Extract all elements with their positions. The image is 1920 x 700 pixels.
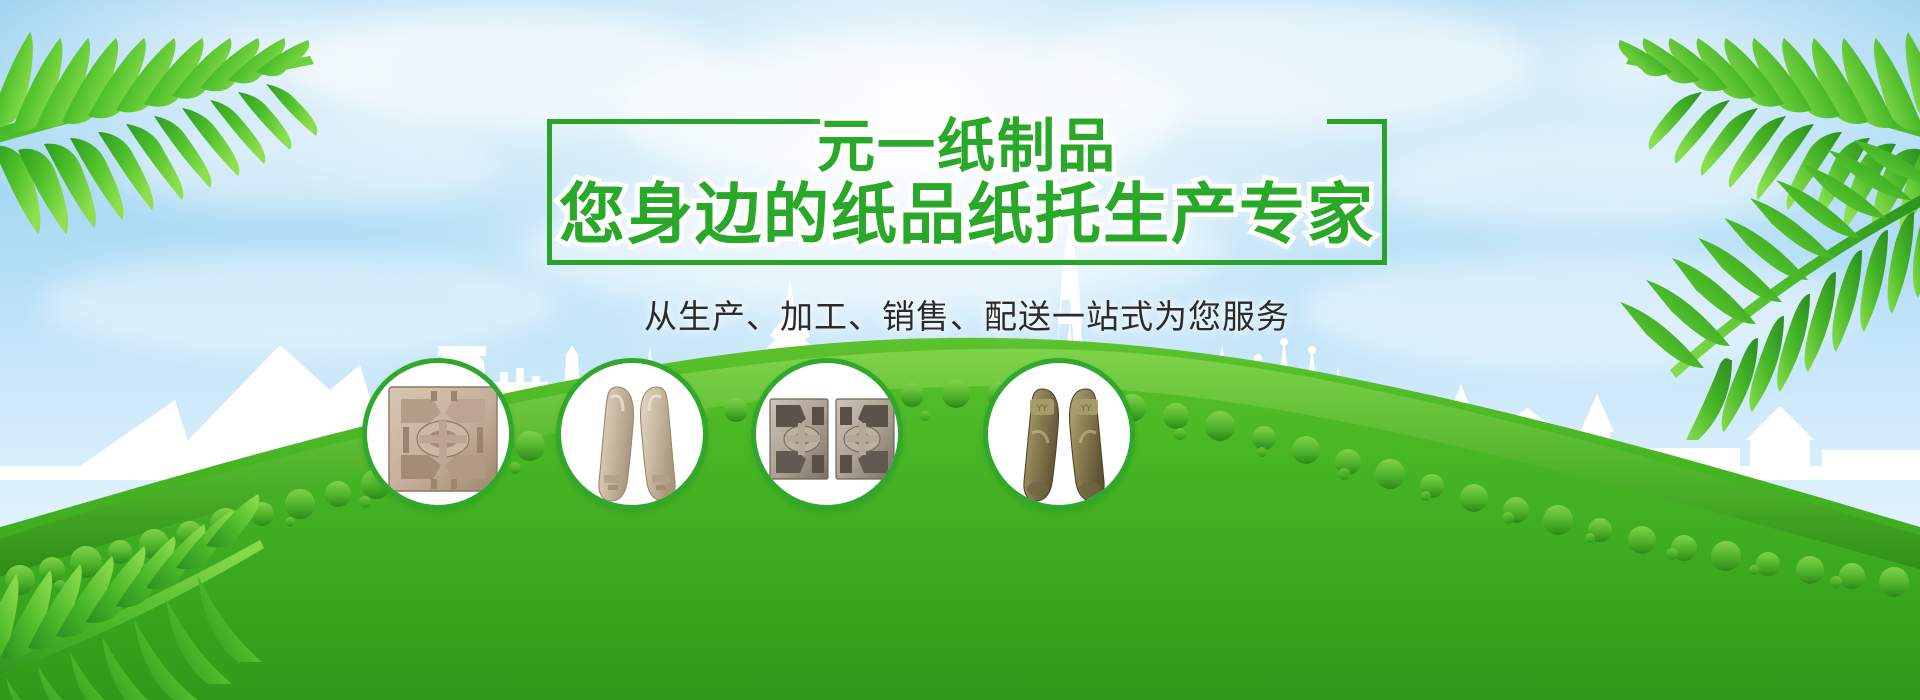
palm-frond-icon <box>1600 140 1920 440</box>
promotional-banner: 元一纸制品 元一纸制品 您身边的纸品纸托生产专家 您身边的纸品纸托生产专家 从生… <box>0 0 1920 700</box>
molded-pulp-corner-pair <box>756 363 903 510</box>
svg-text:YY: YY <box>1080 404 1092 414</box>
molded-pulp-shoe-inserts <box>561 363 708 510</box>
svg-text:YY: YY <box>1036 404 1048 414</box>
palm-frond-icon <box>0 0 340 280</box>
product-circle-4[interactable]: YY YY <box>983 358 1135 510</box>
molded-pulp-shoe-trees: YY YY <box>988 363 1135 510</box>
headline-block: 元一纸制品 元一纸制品 您身边的纸品纸托生产专家 您身边的纸品纸托生产专家 <box>547 105 1387 265</box>
banner-subtitle: 从生产、加工、销售、配送一站式为您服务 <box>547 290 1387 338</box>
product-circle-3[interactable] <box>751 358 903 510</box>
molded-pulp-square-tray <box>367 363 514 510</box>
main-headline: 您身边的纸品纸托生产专家 <box>547 161 1387 257</box>
product-circle-2[interactable] <box>556 358 708 510</box>
palm-frond-icon <box>0 420 290 700</box>
product-circle-1[interactable] <box>362 358 514 510</box>
